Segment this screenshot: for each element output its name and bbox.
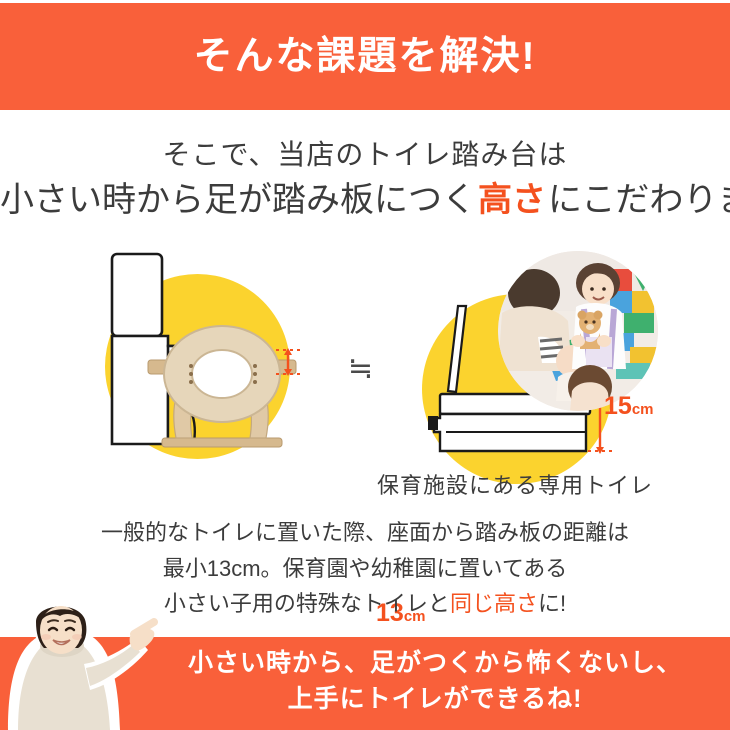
infographic-page: そんな課題を解決! そこで、当店のトイレ踏み台は 小さい時から足が踏み板につく高…	[0, 0, 730, 730]
left-illustration: 13cm	[90, 246, 355, 486]
right-measurement-label: 15cm	[604, 394, 654, 419]
body-line-3-accent: 同じ高さ	[450, 591, 538, 616]
bottom-banner-text: 小さい時から、足がつくから怖くないし、 上手にトイレができるね!	[150, 645, 720, 718]
heading-line-2-after: にこだわりました。	[548, 181, 730, 219]
heading-highlight-takasa: 高さ	[476, 178, 548, 224]
heading-line-2-before: 小さい時から足が踏み板につく	[0, 181, 476, 219]
right-measure-unit: cm	[632, 401, 654, 418]
body-line-3-before: 小さい子用の特殊なトイレと	[164, 591, 450, 616]
bottom-line-2: 上手にトイレができるね!	[150, 681, 720, 717]
bottom-line-1: 小さい時から、足がつくから怖くないし、	[150, 645, 720, 681]
body-line-1: 一般的なトイレに置いた際、座面から踏み板の距離は	[0, 515, 730, 551]
top-banner: そんな課題を解決!	[0, 3, 730, 110]
heading-highlight-text: 高さ	[478, 181, 546, 219]
illustration-row: 13cm ≒	[0, 246, 730, 496]
heading-line-2: 小さい時から足が踏み板につく高さにこだわりました。	[0, 178, 730, 224]
right-illustration: 15cm	[400, 246, 690, 486]
woman-illustration	[2, 592, 160, 730]
woman-pointing-photo	[2, 592, 160, 730]
childcare-photo-inset	[498, 251, 658, 411]
body-line-3-after: に!	[538, 591, 566, 616]
childcare-scene-illustration	[498, 251, 658, 411]
right-illustration-caption: 保育施設にある専用トイレ	[370, 468, 660, 500]
top-banner-title: そんな課題を解決!	[194, 37, 537, 76]
toilet-step-stool-drawing	[90, 246, 355, 486]
heading-line-1: そこで、当店のトイレ踏み台は	[0, 136, 730, 174]
heading-block: そこで、当店のトイレ踏み台は 小さい時から足が踏み板につく高さにこだわりました。	[0, 136, 730, 224]
body-line-2: 最小13cm。保育園や幼稚園に置いてある	[0, 551, 730, 587]
approximately-equal-sign: ≒	[348, 354, 373, 384]
right-measure-value: 15	[604, 392, 632, 420]
